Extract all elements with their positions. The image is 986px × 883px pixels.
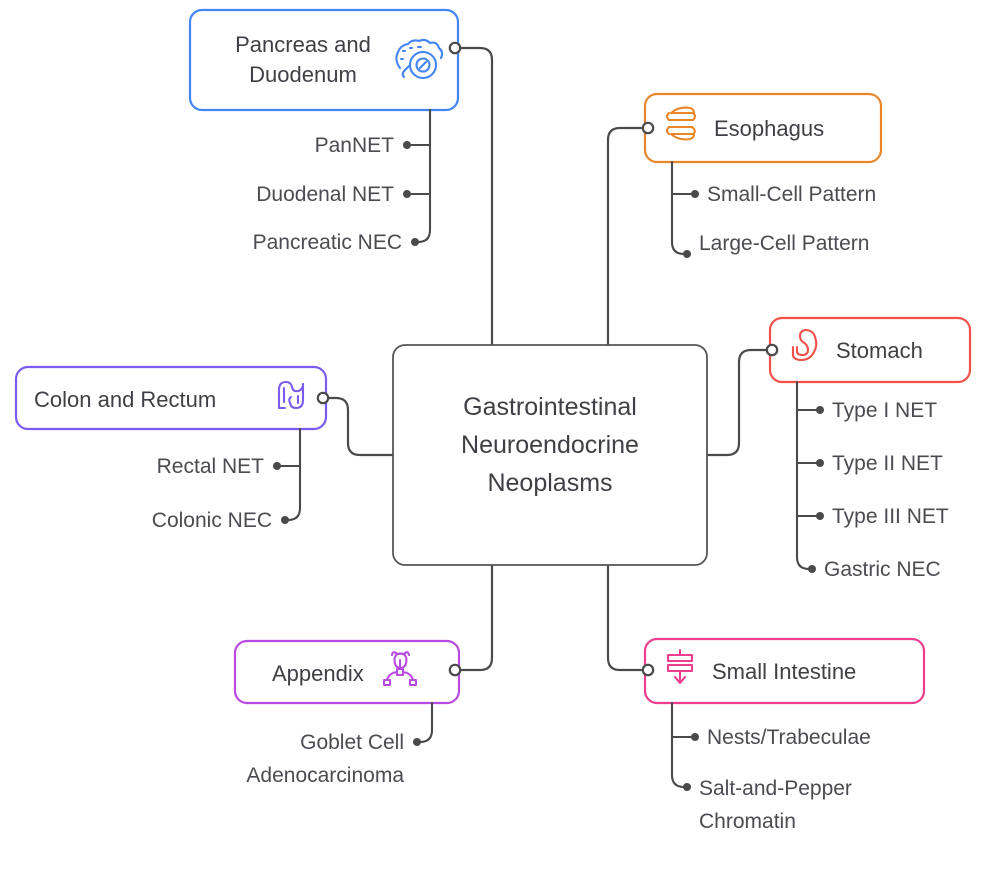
- link-root-to-colon: [326, 398, 393, 455]
- pancreas-leaf-dot-2: [403, 190, 411, 198]
- link-root-to-small-intestine: [608, 565, 641, 670]
- branch-pancreas-and-duodenum[interactable]: Pancreas and Duodenum PanNET Duodenal NE…: [190, 10, 460, 254]
- pancreas-label-line-2: Duodenum: [249, 62, 357, 87]
- mindmap-canvas: Pancreas and Duodenum PanNET Duodenal NE…: [0, 0, 986, 883]
- colon-joint: [318, 393, 328, 403]
- leaf-type-3-net: Type III NET: [832, 505, 949, 528]
- leaf-duodenal-net: Duodenal NET: [256, 183, 394, 206]
- esophagus-leaf-dot-1: [691, 190, 699, 198]
- root-node[interactable]: Gastrointestinal Neuroendocrine Neoplasm…: [393, 345, 707, 565]
- pancreas-leaf-dot-3: [411, 238, 419, 246]
- stomach-leaf-dot-3: [816, 512, 824, 520]
- leaf-salt-and-pepper-line-1: Salt-and-Pepper: [699, 777, 852, 800]
- colon-leaf-dot-1: [273, 462, 281, 470]
- leaf-goblet-cell-line-2: Adenocarcinoma: [246, 764, 404, 787]
- pancreas-joint: [450, 43, 460, 53]
- stomach-leaf-dot-1: [816, 406, 824, 414]
- small-intestine-leaf-dot-2: [683, 783, 691, 791]
- esophagus-label: Esophagus: [714, 116, 824, 141]
- pancreas-leaf-dot-1: [403, 141, 411, 149]
- link-root-to-appendix: [459, 565, 492, 670]
- leaf-rectal-net: Rectal NET: [157, 455, 265, 478]
- leaf-gastric-nec: Gastric NEC: [824, 558, 941, 581]
- stomach-leaf-dot-4: [808, 565, 816, 573]
- leaf-large-cell-pattern: Large-Cell Pattern: [699, 232, 869, 255]
- small-intestine-joint: [643, 665, 653, 675]
- small-intestine-label: Small Intestine: [712, 659, 856, 684]
- leaf-nests-trabeculae: Nests/Trabeculae: [707, 726, 871, 749]
- leaf-pancreatic-nec: Pancreatic NEC: [253, 231, 402, 254]
- small-intestine-leaf-spine: [672, 703, 684, 787]
- root-label-line-1: Gastrointestinal: [463, 393, 637, 421]
- colon-leaf-dot-2: [281, 516, 289, 524]
- appendix-leaf-dot-1: [413, 738, 421, 746]
- branch-small-intestine[interactable]: Small Intestine Nests/Trabeculae Salt-an…: [643, 639, 924, 833]
- colon-leaf-spine: [288, 429, 300, 520]
- root-label-line-3: Neoplasms: [487, 469, 612, 497]
- colon-label: Colon and Rectum: [34, 387, 216, 412]
- appendix-leaf-spine: [420, 703, 432, 742]
- small-intestine-leaf-dot-1: [691, 733, 699, 741]
- esophagus-leaf-dot-2: [683, 250, 691, 258]
- pancreas-label-line-1: Pancreas and: [235, 32, 371, 57]
- pancreas-leaf-spine-path: [418, 110, 430, 242]
- stomach-label: Stomach: [836, 338, 923, 363]
- leaf-goblet-cell-line-1: Goblet Cell: [300, 731, 404, 754]
- leaf-small-cell-pattern: Small-Cell Pattern: [707, 183, 876, 206]
- esophagus-leaf-spine: [672, 162, 684, 254]
- leaf-colonic-nec: Colonic NEC: [152, 509, 272, 532]
- branch-esophagus[interactable]: Esophagus Small-Cell Pattern Large-Cell …: [643, 94, 881, 258]
- leaf-type-2-net: Type II NET: [832, 452, 943, 475]
- leaf-type-1-net: Type I NET: [832, 399, 937, 422]
- root-label-line-2: Neuroendocrine: [461, 431, 639, 459]
- appendix-joint: [450, 665, 460, 675]
- stomach-joint: [767, 345, 777, 355]
- link-root-to-stomach: [707, 350, 766, 455]
- branch-colon-and-rectum[interactable]: Colon and Rectum Rectal NET Colonic NEC: [16, 367, 328, 532]
- leaf-pannet: PanNET: [315, 134, 395, 157]
- branch-appendix[interactable]: Appendix Goblet Cell Adenocarcinoma: [235, 641, 460, 787]
- esophagus-joint: [643, 123, 653, 133]
- leaf-salt-and-pepper-line-2: Chromatin: [699, 810, 796, 833]
- appendix-label: Appendix: [272, 661, 364, 686]
- link-root-to-esophagus: [608, 128, 641, 345]
- link-root-to-pancreas: [459, 48, 492, 345]
- branch-stomach[interactable]: Stomach Type I NET Type II NET Type III …: [767, 318, 970, 581]
- stomach-leaf-dot-2: [816, 459, 824, 467]
